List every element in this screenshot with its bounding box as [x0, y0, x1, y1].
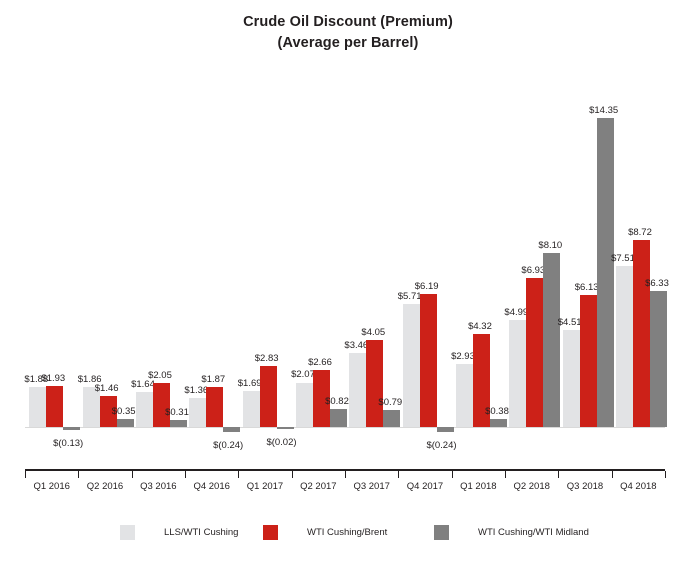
value-label-q2-2016-series-3: $0.35	[112, 406, 136, 417]
x-axis-label-q3-2016: Q3 2016	[132, 481, 185, 492]
value-label-q3-2016-series-3: $0.31	[165, 407, 189, 418]
value-label-q1-2018-series-3: $0.38	[485, 406, 509, 417]
bar-q4-2017-series-2	[420, 294, 437, 427]
bar-q2-2018-series-3	[543, 253, 560, 427]
legend-item-2[interactable]: WTI Cushing/Brent	[263, 522, 387, 542]
legend-label-1: LLS/WTI Cushing	[164, 527, 238, 538]
x-axis-tick	[558, 471, 559, 478]
bar-q3-2018-series-2	[580, 295, 597, 427]
value-label-q3-2018-series-2: $6.13	[575, 282, 599, 293]
bar-q4-2018-series-2	[633, 240, 650, 427]
x-axis-tick	[292, 471, 293, 478]
bar-q2-2018-series-1	[509, 320, 526, 427]
x-axis-label-q4-2016: Q4 2016	[185, 481, 238, 492]
bar-q3-2017-series-1	[349, 353, 366, 427]
x-axis-tick	[665, 471, 666, 478]
legend-item-1[interactable]: LLS/WTI Cushing	[120, 522, 238, 542]
x-axis-label-q3-2017: Q3 2017	[345, 481, 398, 492]
value-label-q2-2018-series-2: $6.93	[521, 265, 545, 276]
bar-q3-2018-series-3	[597, 118, 614, 427]
value-label-q3-2016-series-2: $2.05	[148, 370, 172, 381]
legend-label-3: WTI Cushing/WTI Midland	[478, 527, 589, 538]
value-label-q1-2017-series-2: $2.83	[255, 353, 279, 364]
value-label-q2-2017-series-1: $2.07	[291, 369, 315, 380]
bar-q3-2018-series-1	[563, 330, 580, 427]
bar-q4-2016-series-2	[206, 387, 223, 427]
value-label-q2-2016-series-2: $1.46	[95, 383, 119, 394]
value-label-q3-2018-series-3: $14.35	[589, 105, 618, 116]
x-axis-label-q4-2018: Q4 2018	[612, 481, 665, 492]
value-label-q4-2018-series-1: $7.51	[611, 253, 635, 264]
legend-label-2: WTI Cushing/Brent	[307, 527, 387, 538]
value-label-q1-2018-series-2: $4.32	[468, 321, 492, 332]
legend-swatch-icon-2	[263, 525, 278, 540]
x-axis-tick	[238, 471, 239, 478]
bar-q3-2016-series-1	[136, 392, 153, 427]
x-axis-tick	[452, 471, 453, 478]
bar-q1-2017-series-2	[260, 366, 277, 427]
bar-q1-2017-series-3	[277, 427, 294, 429]
x-axis-label-q2-2016: Q2 2016	[78, 481, 131, 492]
x-axis-label-q1-2016: Q1 2016	[25, 481, 78, 492]
bar-q3-2016-series-3	[170, 420, 187, 427]
value-label-q2-2017-series-2: $2.66	[308, 357, 332, 368]
bar-q4-2018-series-3	[650, 291, 667, 427]
bar-q4-2016-series-3	[223, 427, 240, 432]
chart-title-line1: Crude Oil Discount (Premium)	[243, 14, 453, 30]
bar-q4-2017-series-3	[437, 427, 454, 432]
value-label-q2-2017-series-3: $0.82	[325, 396, 349, 407]
value-label-q3-2017-series-2: $4.05	[361, 327, 385, 338]
chart-legend: LLS/WTI CushingWTI Cushing/BrentWTI Cush…	[0, 522, 696, 546]
value-label-q4-2017-series-1: $5.71	[398, 291, 422, 302]
bar-q4-2017-series-1	[403, 304, 420, 427]
x-axis-label-q4-2017: Q4 2017	[398, 481, 451, 492]
x-axis-tick	[505, 471, 506, 478]
bar-q2-2017-series-1	[296, 383, 313, 428]
x-axis-label-q2-2017: Q2 2017	[292, 481, 345, 492]
x-axis-tick	[612, 471, 613, 478]
x-axis-tick	[132, 471, 133, 478]
plot-area: $1.88$1.93$(0.13)$1.86$1.46$0.35$1.64$2.…	[25, 85, 665, 470]
x-axis-label-q1-2017: Q1 2017	[238, 481, 291, 492]
value-label-q4-2017-series-2: $6.19	[415, 281, 439, 292]
value-label-q4-2016-series-1: $1.36	[184, 385, 208, 396]
value-label-q1-2017-series-3: $(0.02)	[266, 437, 296, 448]
value-label-q4-2018-series-3: $6.33	[645, 278, 669, 289]
value-label-q4-2016-series-2: $1.87	[201, 374, 225, 385]
legend-swatch-icon-3	[434, 525, 449, 540]
legend-item-3[interactable]: WTI Cushing/WTI Midland	[434, 522, 589, 542]
value-label-q4-2016-series-3: $(0.24)	[213, 440, 243, 451]
crude-oil-discount-chart: Crude Oil Discount (Premium) (Average pe…	[0, 0, 696, 570]
x-axis-label-q3-2018: Q3 2018	[558, 481, 611, 492]
bar-q2-2016-series-3	[117, 419, 134, 427]
bar-q1-2016-series-2	[46, 386, 63, 427]
bar-q2-2018-series-2	[526, 278, 543, 427]
x-axis-label-q1-2018: Q1 2018	[452, 481, 505, 492]
value-label-q2-2018-series-3: $8.10	[538, 240, 562, 251]
chart-subtitle: (Average per Barrel)	[0, 33, 696, 54]
value-label-q4-2017-series-3: $(0.24)	[426, 440, 456, 451]
bar-q2-2017-series-3	[330, 409, 347, 427]
x-axis-tick	[185, 471, 186, 478]
value-label-q2-2018-series-1: $4.99	[504, 307, 528, 318]
bar-q4-2018-series-1	[616, 266, 633, 427]
bar-q3-2017-series-2	[366, 340, 383, 427]
x-axis-label-q2-2018: Q2 2018	[505, 481, 558, 492]
bar-q3-2016-series-2	[153, 383, 170, 427]
value-label-q1-2018-series-1: $2.93	[451, 351, 475, 362]
bar-q3-2017-series-3	[383, 410, 400, 427]
x-axis-tick	[78, 471, 79, 478]
bar-q1-2016-series-3	[63, 427, 80, 430]
x-axis-tick	[398, 471, 399, 478]
bar-q1-2016-series-1	[29, 387, 46, 427]
bar-q1-2017-series-1	[243, 391, 260, 427]
value-label-q3-2017-series-3: $0.79	[378, 397, 402, 408]
bar-q1-2018-series-1	[456, 364, 473, 427]
zero-baseline	[25, 427, 665, 428]
value-label-q1-2016-series-2: $1.93	[41, 373, 65, 384]
value-label-q4-2018-series-2: $8.72	[628, 227, 652, 238]
x-axis-tick	[345, 471, 346, 478]
bar-q1-2018-series-3	[490, 419, 507, 427]
chart-title: Crude Oil Discount (Premium) (Average pe…	[0, 12, 696, 54]
value-label-q1-2016-series-3: $(0.13)	[53, 438, 83, 449]
bar-q4-2016-series-1	[189, 398, 206, 427]
value-label-q3-2018-series-1: $4.51	[558, 317, 582, 328]
legend-swatch-icon-1	[120, 525, 135, 540]
value-label-q3-2017-series-1: $3.46	[344, 340, 368, 351]
x-axis-tick	[25, 471, 26, 478]
value-label-q1-2017-series-1: $1.69	[238, 378, 262, 389]
